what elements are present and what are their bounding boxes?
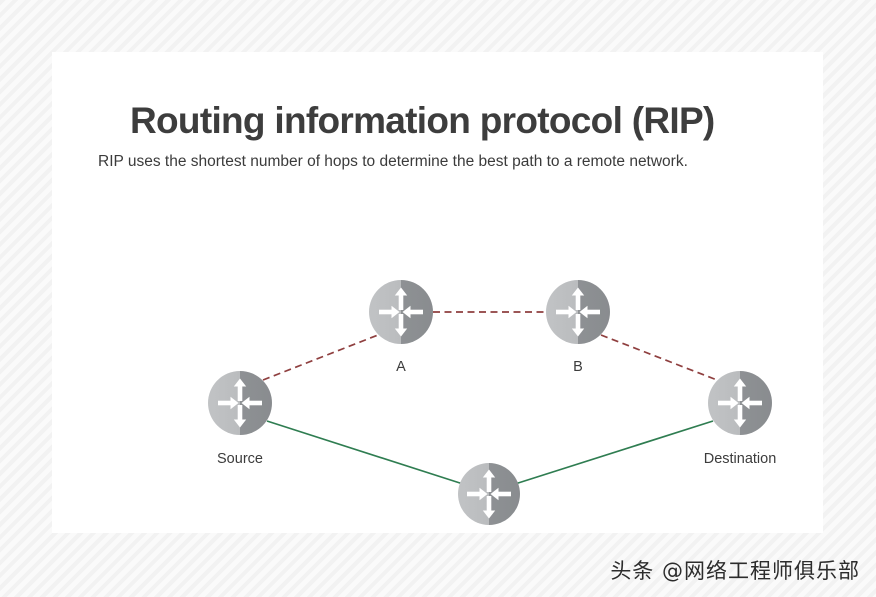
node-a[interactable]: A <box>369 280 433 375</box>
link-b-destination <box>601 335 717 380</box>
watermark: 头条 @网络工程师俱乐部 <box>610 555 860 585</box>
node-c[interactable]: C <box>458 463 520 533</box>
network-topology-diagram: Source A B Destination C <box>52 52 823 533</box>
node-label-a: A <box>396 359 406 375</box>
node-label-destination: Destination <box>704 451 777 467</box>
link-group <box>263 312 717 484</box>
node-label-b: B <box>573 359 583 375</box>
link-source-a <box>263 335 378 380</box>
node-source[interactable]: Source <box>208 371 272 467</box>
node-destination[interactable]: Destination <box>704 371 777 467</box>
node-label-source: Source <box>217 451 263 467</box>
content-card: Routing information protocol (RIP) RIP u… <box>52 52 823 533</box>
link-c-destination <box>515 421 713 484</box>
node-b[interactable]: B <box>546 280 610 375</box>
link-source-c <box>267 421 463 484</box>
